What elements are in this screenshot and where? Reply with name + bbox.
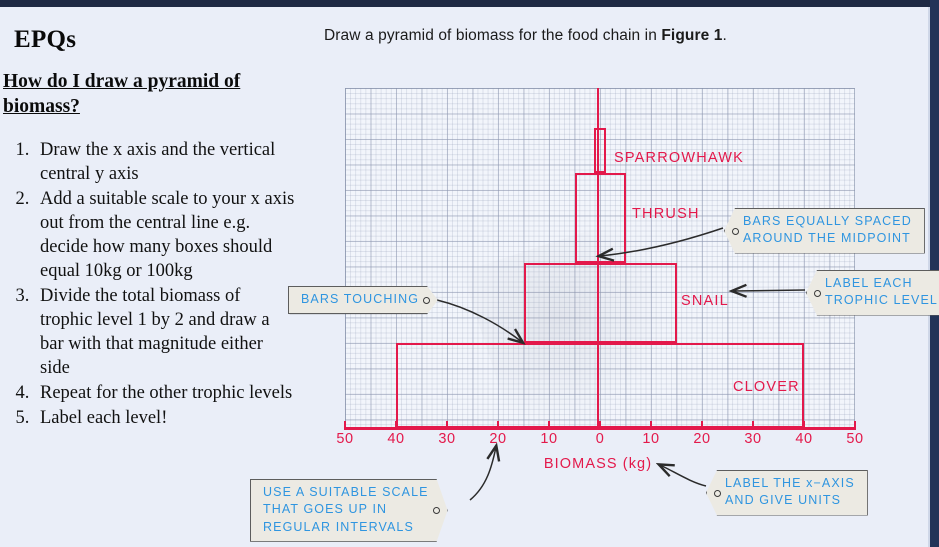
slide-page: EPQs How do I draw a pyramid of biomass?… xyxy=(0,0,939,547)
question-prompt: Draw a pyramid of biomass for the food c… xyxy=(324,27,727,45)
x-axis-tick-label: 30 xyxy=(438,431,455,447)
x-axis-tick-label: 20 xyxy=(693,431,710,447)
section-heading: How do I draw a pyramid of biomass? xyxy=(3,70,285,120)
callout-label-x-axis[interactable]: LABEL THE x−AXIS AND GIVE UNITS xyxy=(706,470,868,516)
prompt-text-after: . xyxy=(722,27,726,44)
callout-line: BARS TOUCHING xyxy=(301,291,419,308)
page-title: EPQs xyxy=(14,26,300,54)
steps-list: Draw the x axis and the vertical central… xyxy=(0,138,296,431)
callout-eyelet xyxy=(714,490,721,497)
biomass-bar xyxy=(594,128,606,173)
x-axis-tick-label: 50 xyxy=(336,431,353,447)
x-axis-title: BIOMASS (kg) xyxy=(544,456,652,472)
page-top-border xyxy=(0,0,939,7)
callout-eyelet xyxy=(433,507,440,514)
callout-line: LABEL EACH xyxy=(825,275,938,292)
callout-line: TROPHIC LEVEL xyxy=(825,292,938,309)
callout-line: REGULAR INTERVALS xyxy=(263,519,429,536)
list-item: Divide the total biomass of trophic leve… xyxy=(34,284,296,380)
callout-eyelet xyxy=(814,290,821,297)
list-item: Draw the x axis and the vertical central… xyxy=(34,138,296,186)
callout-line: AROUND THE MIDPOINT xyxy=(743,230,912,247)
biomass-bar xyxy=(575,173,626,263)
list-item: Repeat for the other trophic levels xyxy=(34,381,296,405)
x-axis-tick-label: 0 xyxy=(596,431,605,447)
bar-label-sparrowhawk: SPARROWHAWK xyxy=(614,150,744,166)
prompt-text-before: Draw a pyramid of biomass for the food c… xyxy=(324,27,661,44)
callout-line: AND GIVE UNITS xyxy=(725,492,855,509)
bar-label-clover: CLOVER xyxy=(733,379,800,395)
prompt-figure-ref: Figure 1 xyxy=(661,27,722,44)
x-axis-tick xyxy=(854,421,856,430)
callout-eyelet xyxy=(423,297,430,304)
x-axis-tick-label: 30 xyxy=(744,431,761,447)
callout-eyelet xyxy=(732,228,739,235)
list-item: Label each level! xyxy=(34,406,296,430)
x-axis-tick-label: 10 xyxy=(540,431,557,447)
x-axis-tick-label: 10 xyxy=(642,431,659,447)
callout-line: LABEL THE x−AXIS xyxy=(725,475,855,492)
bar-label-snail: SNAIL xyxy=(681,293,729,309)
callout-bars-equally-spaced[interactable]: BARS EQUALLY SPACED AROUND THE MIDPOINT xyxy=(724,208,925,254)
callout-line: THAT GOES UP IN xyxy=(263,501,429,518)
x-axis-tick xyxy=(344,421,346,430)
list-item: Add a suitable scale to your x axis out … xyxy=(34,187,296,283)
x-axis-tick-label: 20 xyxy=(489,431,506,447)
x-axis-tick-label: 40 xyxy=(795,431,812,447)
x-axis-tick-label: 50 xyxy=(846,431,863,447)
biomass-bar xyxy=(524,263,677,343)
callout-line: BARS EQUALLY SPACED xyxy=(743,213,912,230)
bar-label-thrush: THRUSH xyxy=(632,206,700,222)
callout-label-each-trophic-level[interactable]: LABEL EACH TROPHIC LEVEL xyxy=(806,270,939,316)
callout-line: USE A SUITABLE SCALE xyxy=(263,484,429,501)
callout-bars-touching[interactable]: BARS TOUCHING xyxy=(288,286,438,314)
x-axis-tick-label: 40 xyxy=(387,431,404,447)
callout-use-suitable-scale[interactable]: USE A SUITABLE SCALE THAT GOES UP IN REG… xyxy=(250,479,448,542)
instructions-panel: EPQs How do I draw a pyramid of biomass?… xyxy=(0,14,300,431)
